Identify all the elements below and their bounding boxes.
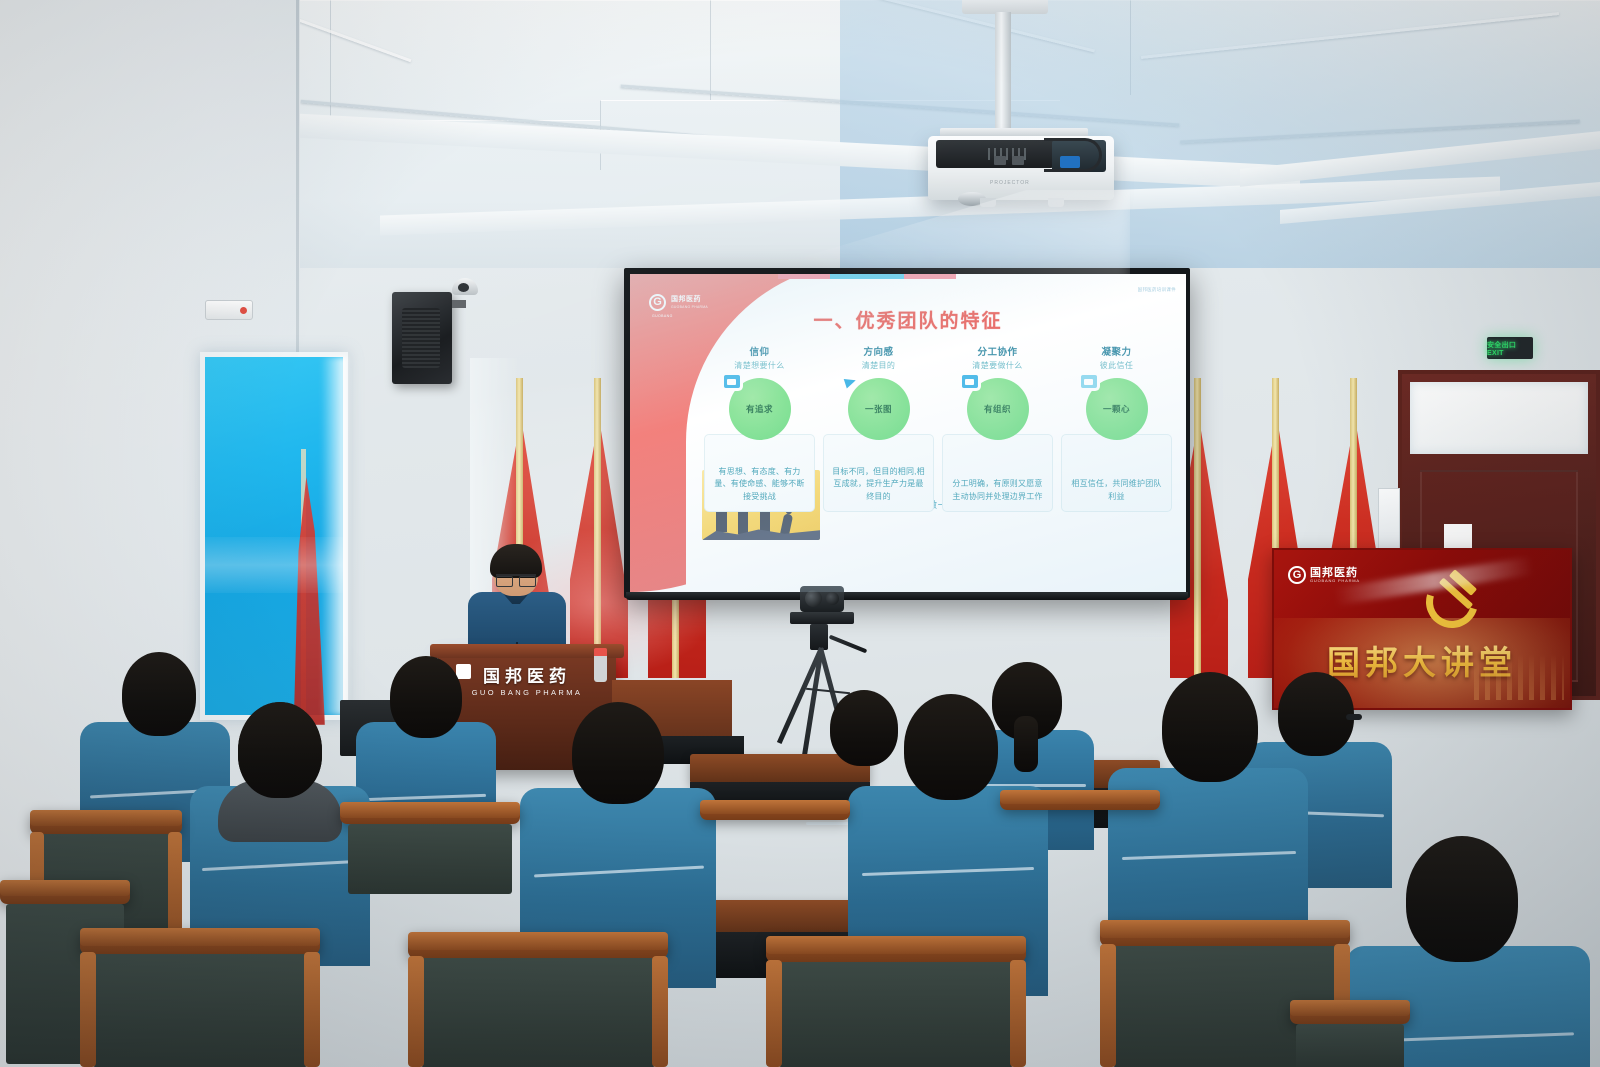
column-body: 分工明确，有原则又愿意主动协同并处理边界工作	[951, 478, 1044, 503]
column-subtitle: 清楚想要什么	[734, 360, 784, 371]
water-bottle	[594, 648, 607, 682]
briefcase-icon	[962, 375, 978, 388]
column-body: 相互信任，共同维护团队利益	[1070, 478, 1163, 503]
logo-g-icon: G	[1288, 566, 1306, 584]
slide-column-4: 凝聚力 彼此信任 一颗心 相互信任，共同维护团队利益	[1059, 344, 1174, 440]
column-title: 分工协作	[977, 344, 1017, 358]
projector-port-panel	[936, 140, 1054, 168]
column-card: 有思想、有态度、有力量、有使命感、能够不断接受挑战	[704, 434, 815, 512]
podium-sign: 国邦医药 GUO BANG PHARMA	[452, 662, 602, 697]
column-card: 目标不同，但目的相同,相互成就，提升生产力是最终目的	[823, 434, 934, 512]
banner-skyline-graphic	[1474, 654, 1564, 700]
handshake-icon	[1081, 375, 1097, 388]
column-subtitle: 清楚目的	[862, 360, 896, 371]
alarm-box	[205, 300, 253, 320]
screen-bottom-bar	[626, 592, 1188, 600]
speaker-mount	[452, 300, 466, 308]
column-title: 信仰	[749, 344, 769, 358]
training-room-photo: PROJECTOR G 国邦医药 GUOBANG PHARMA GUOBANG …	[0, 0, 1600, 1067]
column-bubble: 一颗心	[1086, 378, 1148, 440]
column-bubble: 一张图	[848, 378, 910, 440]
emergency-exit-sign: 安全出口 EXIT	[1487, 337, 1533, 359]
column-body: 目标不同，但目的相同,相互成就，提升生产力是最终目的	[832, 466, 925, 503]
bubble-label: 有追求	[746, 403, 773, 415]
paper-plane-icon	[843, 375, 859, 388]
briefcase-icon	[724, 375, 740, 388]
exit-sign-text: 安全出口 EXIT	[1487, 340, 1533, 357]
bubble-label: 一张图	[865, 403, 892, 415]
camera-lens-icon	[805, 590, 822, 607]
podium-chinese-text: 国邦医药	[452, 662, 602, 687]
wall-speaker	[392, 292, 452, 384]
projector-cable	[1044, 138, 1102, 172]
banner-logo: G 国邦医药 GUOBANG PHARMA	[1288, 566, 1360, 584]
ponytail	[1014, 716, 1038, 772]
column-title: 凝聚力	[1101, 344, 1131, 358]
ptz-camera	[800, 586, 844, 612]
column-card: 相互信任，共同维护团队利益	[1061, 434, 1172, 512]
projector-mount-pole	[995, 12, 1011, 132]
presentation-slide: G 国邦医药 GUOBANG PHARMA GUOBANG 国邦医药培训课件 一…	[630, 274, 1186, 592]
podium-english-text: GUO BANG PHARMA	[452, 688, 602, 697]
column-body: 有思想、有态度、有力量、有使命感、能够不断接受挑战	[713, 466, 806, 503]
window-light-glow	[321, 357, 347, 715]
alarm-led-icon	[240, 307, 247, 314]
column-card: 分工明确，有原则又愿意主动协同并处理边界工作	[942, 434, 1053, 512]
wall-junction-box	[1378, 488, 1400, 550]
column-bubble: 有组织	[967, 378, 1029, 440]
column-bubble: 有追求	[729, 378, 791, 440]
column-subtitle: 彼此信任	[1100, 360, 1134, 371]
tripod-head-plate	[790, 612, 854, 624]
column-subtitle: 清楚要做什么	[972, 360, 1022, 371]
door-transom-window	[1410, 382, 1588, 454]
glasses-icon	[1346, 714, 1362, 720]
column-title: 方向感	[863, 344, 893, 358]
camera-lens-secondary-icon	[826, 592, 839, 605]
slide-columns: 信仰 清楚想要什么 有追求 有思想、有态度、有力量、有使命感、能够不断接受挑战 …	[702, 344, 1174, 440]
slide-column-2: 方向感 清楚目的 一张图 目标不同，但目的相同,相互成就，提升生产力是最终目的	[821, 344, 936, 440]
slide-column-3: 分工协作 清楚要做什么 有组织 分工明确，有原则又愿意主动协同并处理边界工作	[940, 344, 1055, 440]
slide-title: 一、优秀团队的特征	[630, 306, 1186, 333]
banner-logo-sub: GUOBANG PHARMA	[1310, 579, 1360, 583]
slide-column-1: 信仰 清楚想要什么 有追求 有思想、有态度、有力量、有使命感、能够不断接受挑战	[702, 344, 817, 440]
bubble-label: 有组织	[984, 403, 1011, 415]
projection-screen[interactable]: G 国邦医药 GUOBANG PHARMA GUOBANG 国邦医药培训课件 一…	[630, 274, 1186, 592]
projector-brand-label: PROJECTOR	[990, 180, 1030, 186]
slide-header-right: 国邦医药培训课件	[1138, 287, 1176, 293]
bubble-label: 一颗心	[1103, 403, 1130, 415]
window	[200, 352, 348, 720]
glasses-icon	[496, 574, 536, 583]
